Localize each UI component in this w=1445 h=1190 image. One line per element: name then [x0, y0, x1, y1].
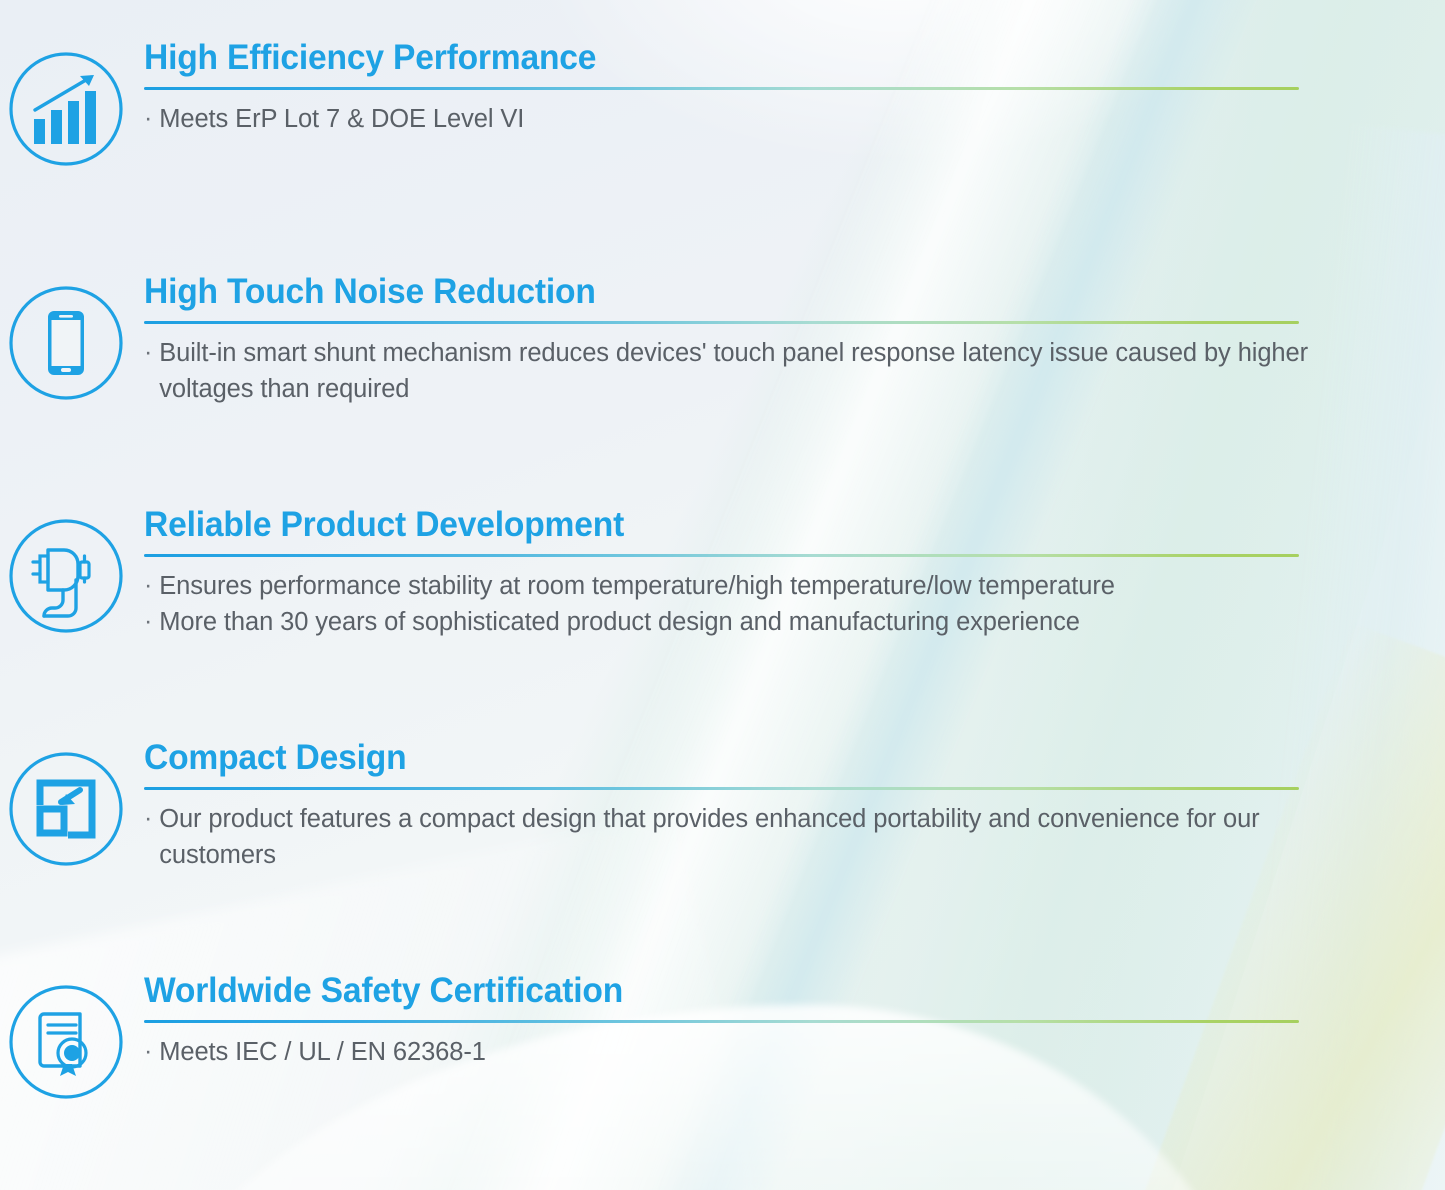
- feature-body: Reliable Product Development · Ensures p…: [132, 507, 1445, 640]
- bullet-item: · Built-in smart shunt mechanism reduces…: [144, 335, 1367, 407]
- feature-body: High Efficiency Performance · Meets ErP …: [132, 40, 1445, 137]
- bullet-item: · Ensures performance stability at room …: [144, 568, 1367, 604]
- power-adapter-icon: [4, 514, 128, 638]
- feature-bullets: · Built-in smart shunt mechanism reduces…: [144, 335, 1367, 407]
- icon-wrap: [0, 740, 132, 871]
- feature-title: High Touch Noise Reduction: [144, 274, 1318, 309]
- bullet-marker-icon: ·: [144, 1034, 152, 1070]
- feature-item-worldwide-safety-certification: Worldwide Safety Certification · Meets I…: [0, 973, 1445, 1104]
- feature-title: Compact Design: [144, 740, 1318, 775]
- icon-wrap: [0, 507, 132, 638]
- feature-title: High Efficiency Performance: [144, 40, 1318, 75]
- feature-divider: [144, 787, 1299, 790]
- compact-resize-icon: [4, 747, 128, 871]
- background-streak-yellow: [1044, 623, 1445, 1190]
- bullet-text: Meets IEC / UL / EN 62368-1: [159, 1034, 486, 1070]
- bullet-item: · Meets ErP Lot 7 & DOE Level VI: [144, 101, 1367, 137]
- feature-body: High Touch Noise Reduction · Built-in sm…: [132, 274, 1445, 407]
- feature-bullets: · Our product features a compact design …: [144, 801, 1367, 873]
- feature-bullets: · Ensures performance stability at room …: [144, 568, 1367, 640]
- feature-divider: [144, 1020, 1299, 1023]
- icon-wrap: [0, 973, 132, 1104]
- feature-item-high-touch-noise-reduction: High Touch Noise Reduction · Built-in sm…: [0, 274, 1445, 407]
- feature-divider: [144, 321, 1299, 324]
- bullet-item: · More than 30 years of sophisticated pr…: [144, 604, 1367, 640]
- bullet-item: · Our product features a compact design …: [144, 801, 1367, 873]
- icon-wrap: [0, 40, 132, 171]
- certificate-award-icon: [4, 980, 128, 1104]
- icon-wrap: [0, 274, 132, 405]
- bullet-text: Built-in smart shunt mechanism reduces d…: [159, 335, 1367, 407]
- bullet-marker-icon: ·: [144, 568, 152, 604]
- feature-item-reliable-product-development: Reliable Product Development · Ensures p…: [0, 507, 1445, 640]
- feature-divider: [144, 554, 1299, 557]
- bullet-item: · Meets IEC / UL / EN 62368-1: [144, 1034, 1367, 1070]
- bullet-text: More than 30 years of sophisticated prod…: [159, 604, 1080, 640]
- bullet-marker-icon: ·: [144, 335, 152, 371]
- bullet-text: Ensures performance stability at room te…: [159, 568, 1115, 604]
- bullet-marker-icon: ·: [144, 801, 152, 837]
- bar-chart-growth-icon: [4, 47, 128, 171]
- feature-bullets: · Meets IEC / UL / EN 62368-1: [144, 1034, 1367, 1070]
- feature-highlights-page: High Efficiency Performance · Meets ErP …: [0, 0, 1445, 1190]
- feature-item-high-efficiency-performance: High Efficiency Performance · Meets ErP …: [0, 40, 1445, 171]
- feature-title: Reliable Product Development: [144, 507, 1318, 542]
- bullet-text: Our product features a compact design th…: [159, 801, 1367, 873]
- feature-title: Worldwide Safety Certification: [144, 973, 1318, 1008]
- feature-item-compact-design: Compact Design · Our product features a …: [0, 740, 1445, 873]
- feature-divider: [144, 87, 1299, 90]
- feature-body: Compact Design · Our product features a …: [132, 740, 1445, 873]
- feature-body: Worldwide Safety Certification · Meets I…: [132, 973, 1445, 1070]
- bullet-text: Meets ErP Lot 7 & DOE Level VI: [159, 101, 524, 137]
- bullet-marker-icon: ·: [144, 604, 152, 640]
- feature-bullets: · Meets ErP Lot 7 & DOE Level VI: [144, 101, 1367, 137]
- bullet-marker-icon: ·: [144, 101, 152, 137]
- smartphone-icon: [4, 281, 128, 405]
